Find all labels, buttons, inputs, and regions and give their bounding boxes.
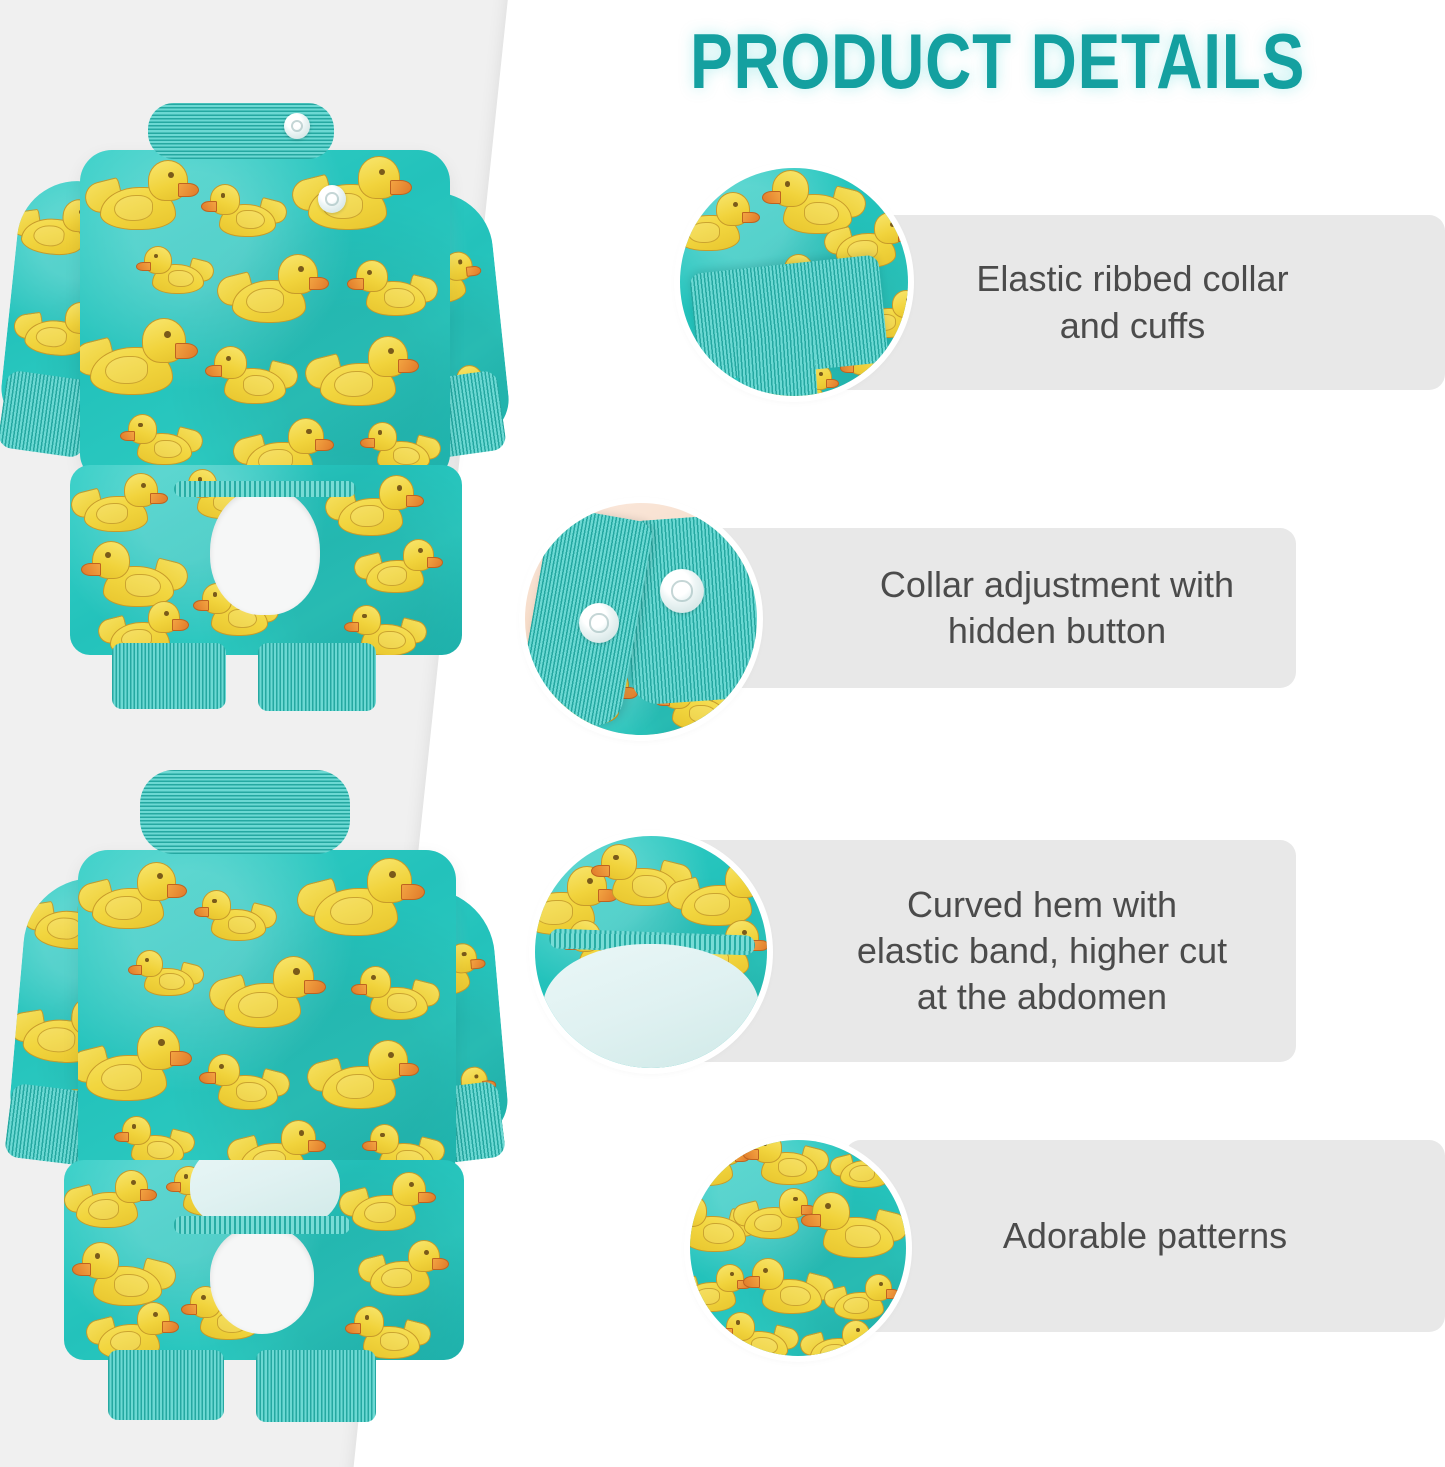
snap-button-top xyxy=(284,113,310,139)
feature-2-label-line1: Collar adjustment with xyxy=(880,562,1234,608)
feature-1-photo xyxy=(680,168,908,396)
torso-back xyxy=(80,150,450,480)
hem-inner-lining xyxy=(543,944,759,1068)
ribbed-cuff-detail-lower xyxy=(736,335,819,396)
feature-3-photo xyxy=(535,836,767,1068)
hidden-snap-button-lower xyxy=(579,603,619,643)
leg-cuff-left xyxy=(112,643,226,709)
elastic-band-back xyxy=(174,481,356,497)
feature-3-label-box: Curved hem with elastic band, higher cut… xyxy=(680,840,1296,1062)
feature-1-label-line2: and cuffs xyxy=(976,303,1288,349)
infographic-root: PRODUCT DETAILS xyxy=(0,0,1445,1467)
feature-3-label-line1: Curved hem with xyxy=(857,882,1227,928)
feature-2-label-box: Collar adjustment with hidden button xyxy=(700,528,1296,688)
product-photo-back-view xyxy=(0,45,520,705)
feature-4-photo xyxy=(690,1140,906,1356)
snap-button-lower xyxy=(318,185,346,213)
elastic-band-front xyxy=(174,1216,350,1234)
front-belly-opening xyxy=(210,1226,314,1334)
feature-4-label-line1: Adorable patterns xyxy=(1003,1213,1287,1259)
front-leg-cuff-right xyxy=(256,1350,376,1422)
belly-opening xyxy=(210,487,320,615)
front-leg-cuff-left xyxy=(108,1350,224,1420)
feature-1-label-line1: Elastic ribbed collar xyxy=(976,256,1288,302)
feature-1-label-box: Elastic ribbed collar and cuffs xyxy=(820,215,1445,390)
front-ribbed-collar xyxy=(140,770,350,854)
feature-3-label-line2: elastic band, higher cut xyxy=(857,928,1227,974)
feature-4-label-box: Adorable patterns xyxy=(845,1140,1445,1332)
torso-front xyxy=(78,850,456,1180)
page-title: PRODUCT DETAILS xyxy=(690,16,1313,107)
hind-legs-panel xyxy=(70,465,462,655)
front-legs-panel xyxy=(64,1160,464,1360)
feature-3-label-line3: at the abdomen xyxy=(857,974,1227,1020)
feature-2-photo xyxy=(525,503,757,735)
product-photo-front-view xyxy=(0,750,520,1430)
hidden-snap-button-upper xyxy=(660,569,704,613)
feature-2-label-line2: hidden button xyxy=(880,608,1234,654)
leg-cuff-right xyxy=(258,643,376,711)
